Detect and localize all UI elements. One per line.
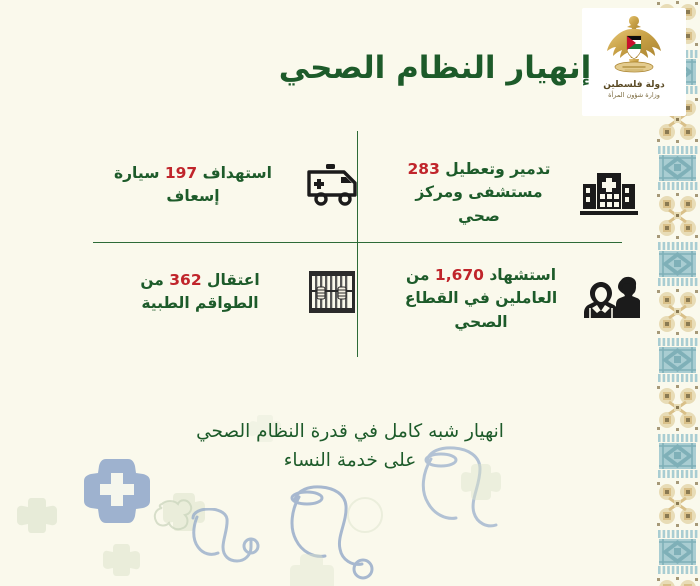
stat-hospitals-number: 283 (408, 160, 440, 178)
puzzle-piece-watermark (98, 540, 146, 584)
stat-health-workers-text: استشهاد 1,670 من العاملين في القطاع الصح… (392, 264, 570, 334)
logo-ministry-name: وزارة شؤون المرأة (608, 92, 660, 99)
page-title-text: إنهيار النظام الصحي (109, 50, 591, 86)
stat-detained-text: اعتقال 362 من الطواقم الطبية (110, 269, 290, 316)
tatreez-motif (655, 336, 700, 384)
stat-hospitals-suffix: مستشفى ومركز صحي (415, 183, 542, 224)
tatreez-motif (655, 480, 700, 528)
tatreez-motif (655, 144, 700, 192)
medical-cross-watermark (280, 552, 338, 586)
puzzle-piece-watermark (12, 495, 64, 547)
hospital-icon (576, 167, 642, 219)
stat-hospitals: تدمير وتعطيل 283 مستشفى ومركز صحي (392, 158, 642, 228)
puzzle-piece-watermark (345, 495, 385, 535)
puzzle-piece-watermark (148, 497, 198, 543)
medical-workers-icon (582, 274, 642, 324)
stat-detained: اعتقال 362 من الطواقم الطبية (110, 268, 360, 316)
stat-health-workers: استشهاد 1,670 من العاملين في القطاع الصح… (392, 264, 642, 334)
stat-detained-number: 362 (169, 271, 201, 289)
tatreez-motif (655, 240, 700, 288)
stat-detained-prefix: اعتقال (202, 271, 260, 289)
ambulance-icon (302, 162, 364, 208)
footer-caption: انهيار شبه كامل في قدرة النظام الصحي على… (0, 418, 700, 475)
page-title: إنهيار النظام الصحي (0, 50, 700, 86)
stethoscope-watermark (175, 508, 265, 586)
tatreez-motif (655, 288, 700, 336)
stat-ambulances-prefix: استهداف (197, 164, 272, 182)
stat-hospitals-text: تدمير وتعطيل 283 مستشفى ومركز صحي (392, 158, 566, 228)
footer-caption-line2: على خدمة النساء (0, 447, 700, 476)
tatreez-motif (655, 576, 700, 586)
stat-health-workers-number: 1,670 (435, 266, 484, 284)
stat-hospitals-prefix: تدمير وتعطيل (440, 160, 551, 178)
stat-ambulances: استهداف 197 سيارة إسعاف (92, 162, 364, 209)
stat-ambulances-text: استهداف 197 سيارة إسعاف (92, 162, 294, 209)
tatreez-motif (655, 528, 700, 576)
infographic-page: دولة فلسطين وزارة شؤون المرأة إنهيار الن… (0, 0, 700, 586)
puzzle-piece-watermark (155, 490, 211, 542)
stethoscope-watermark (275, 485, 380, 586)
stat-health-workers-prefix: استشهاد (484, 266, 556, 284)
footer-caption-line1: انهيار شبه كامل في قدرة النظام الصحي (0, 418, 700, 447)
stat-ambulances-number: 197 (165, 164, 197, 182)
prison-bars-icon (304, 268, 360, 316)
tatreez-motif (655, 192, 700, 240)
